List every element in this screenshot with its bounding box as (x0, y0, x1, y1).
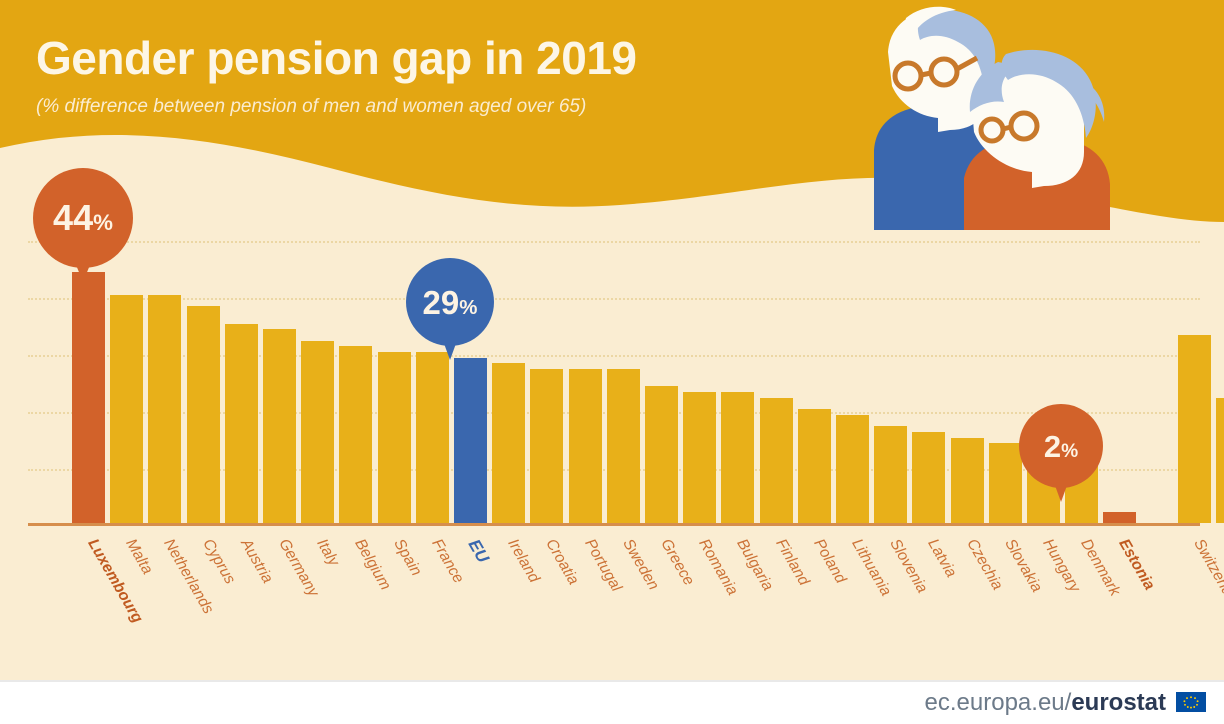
luxembourg-callout-value: 44% (53, 200, 113, 236)
bar-austria[interactable] (225, 324, 258, 524)
category-label-austria: Austria (236, 536, 276, 587)
category-label-ireland: Ireland (504, 536, 543, 586)
bar-malta[interactable] (110, 295, 143, 523)
category-label-spain: Spain (389, 536, 424, 579)
category-label-estonia: Estonia (1115, 536, 1159, 593)
eu-callout-ball: 29% (406, 258, 494, 346)
category-label-cyprus: Cyprus (198, 536, 238, 588)
footer: ec.europa.eu/eurostat (0, 680, 1224, 724)
bar-sweden[interactable] (607, 369, 640, 523)
bar-estonia[interactable] (1103, 512, 1136, 523)
eu-callout-value: 29% (423, 286, 478, 319)
bar-spain[interactable] (378, 352, 411, 523)
bar-bulgaria[interactable] (721, 392, 754, 523)
footer-url-prefix: ec.europa.eu/ (925, 689, 1072, 716)
bar-slovakia[interactable] (989, 443, 1022, 523)
elderly-couple-illustration (846, 0, 1146, 230)
bar-latvia[interactable] (912, 432, 945, 523)
bar-belgium[interactable] (339, 346, 372, 523)
bar-greece[interactable] (645, 386, 678, 523)
bar-norway[interactable] (1216, 398, 1224, 523)
category-label-croatia: Croatia (542, 536, 583, 588)
category-label-france: France (427, 536, 467, 587)
page-title: Gender pension gap in 2019 (36, 34, 637, 82)
bar-netherlands[interactable] (148, 295, 181, 523)
axis-baseline (28, 523, 1200, 526)
bar-germany[interactable] (263, 329, 296, 523)
bar-italy[interactable] (301, 341, 334, 523)
footer-url-brand: eurostat (1071, 689, 1166, 716)
category-label-italy: Italy (313, 536, 343, 570)
bar-eu[interactable] (454, 358, 487, 523)
bar-lithuania[interactable] (836, 415, 869, 523)
bar-luxembourg[interactable] (72, 272, 105, 523)
estonia-callout-tail (1053, 480, 1069, 502)
bar-poland[interactable] (798, 409, 831, 523)
bar-finland[interactable] (760, 398, 793, 523)
infographic-root: Gender pension gap in 2019 (% difference… (0, 0, 1224, 724)
bar-switzerland[interactable] (1178, 335, 1211, 523)
luxembourg-callout-ball: 44% (33, 168, 133, 268)
bar-portugal[interactable] (569, 369, 602, 523)
category-label-switzerland: Switzerland (1189, 536, 1224, 614)
luxembourg-callout-tail (74, 260, 92, 282)
category-label-malta: Malta (122, 536, 157, 578)
page-subtitle: (% difference between pension of men and… (36, 96, 586, 118)
bar-ireland[interactable] (492, 363, 525, 523)
category-label-czechia: Czechia (962, 536, 1006, 593)
category-label-bulgaria: Bulgaria (733, 536, 777, 594)
category-label-latvia: Latvia (924, 536, 960, 581)
footer-divider (0, 680, 1224, 682)
bar-france[interactable] (416, 352, 449, 523)
category-label-finland: Finland (771, 536, 812, 589)
bar-romania[interactable] (683, 392, 716, 523)
estonia-callout-value: 2% (1044, 431, 1078, 462)
category-label-belgium: Belgium (351, 536, 395, 593)
bar-czechia[interactable] (951, 438, 984, 524)
bar-slovenia[interactable] (874, 426, 907, 523)
estonia-callout-ball: 2% (1019, 404, 1103, 488)
eu-flag-icon (1176, 692, 1206, 712)
category-label-poland: Poland (809, 536, 849, 587)
bar-cyprus[interactable] (187, 306, 220, 523)
header-band: Gender pension gap in 2019 (% difference… (0, 0, 1224, 230)
category-label-greece: Greece (656, 536, 697, 589)
category-label-eu: EU (464, 536, 493, 566)
bar-croatia[interactable] (530, 369, 563, 523)
eu-callout-tail (442, 338, 458, 360)
eurostat-link[interactable]: ec.europa.eu/eurostat (925, 689, 1166, 717)
